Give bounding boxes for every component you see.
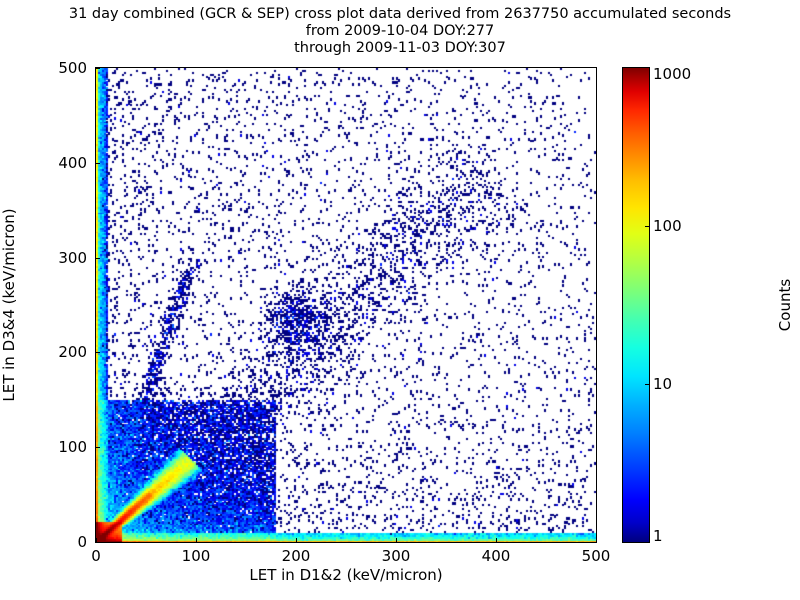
colorbar-tick-label: 1000 <box>653 65 691 83</box>
colorbar-tick-label: 100 <box>653 217 682 235</box>
x-tick-label: 300 <box>382 547 411 565</box>
colorbar-tick-label: 10 <box>653 375 672 393</box>
y-tick-mark <box>96 447 100 448</box>
y-tick-mark <box>96 163 100 164</box>
y-tick-mark <box>96 258 100 259</box>
y-tick-label: 100 <box>1 438 87 456</box>
x-tick-mark <box>196 538 197 542</box>
figure-canvas: 31 day combined (GCR & SEP) cross plot d… <box>0 0 800 600</box>
plot-axes <box>95 67 597 543</box>
x-axis-label: LET in D1&2 (keV/micron) <box>95 566 597 584</box>
y-tick-label: 400 <box>1 154 87 172</box>
y-axis-label: LET in D3&4 (keV/micron) <box>0 185 18 425</box>
y-tick-label: 0 <box>1 533 87 551</box>
y-tick-mark <box>96 68 100 69</box>
x-tick-label: 0 <box>91 547 101 565</box>
colorbar-tick-label: 1 <box>653 527 663 545</box>
x-tick-label: 400 <box>482 547 511 565</box>
scatter-heatmap-data <box>96 68 596 542</box>
y-tick-label: 500 <box>1 59 87 77</box>
colorbar-tick-mark <box>645 226 650 227</box>
x-tick-label: 100 <box>182 547 211 565</box>
y-tick-mark <box>96 542 100 543</box>
plot-title-line-2: from 2009-10-04 DOY:277 <box>0 23 800 40</box>
x-tick-mark <box>496 538 497 542</box>
colorbar-label: Counts <box>776 215 794 395</box>
x-tick-label: 200 <box>282 547 311 565</box>
x-tick-mark <box>396 538 397 542</box>
x-tick-label: 500 <box>582 547 611 565</box>
y-tick-mark <box>96 352 100 353</box>
plot-title-line-3: through 2009-11-03 DOY:307 <box>0 40 800 57</box>
colorbar-tick-mark <box>645 384 650 385</box>
colorbar <box>622 67 650 543</box>
plot-title-line-1: 31 day combined (GCR & SEP) cross plot d… <box>0 6 800 23</box>
plot-title: 31 day combined (GCR & SEP) cross plot d… <box>0 6 800 57</box>
x-tick-mark <box>596 538 597 542</box>
colorbar-gradient <box>622 67 650 543</box>
x-tick-mark <box>296 538 297 542</box>
